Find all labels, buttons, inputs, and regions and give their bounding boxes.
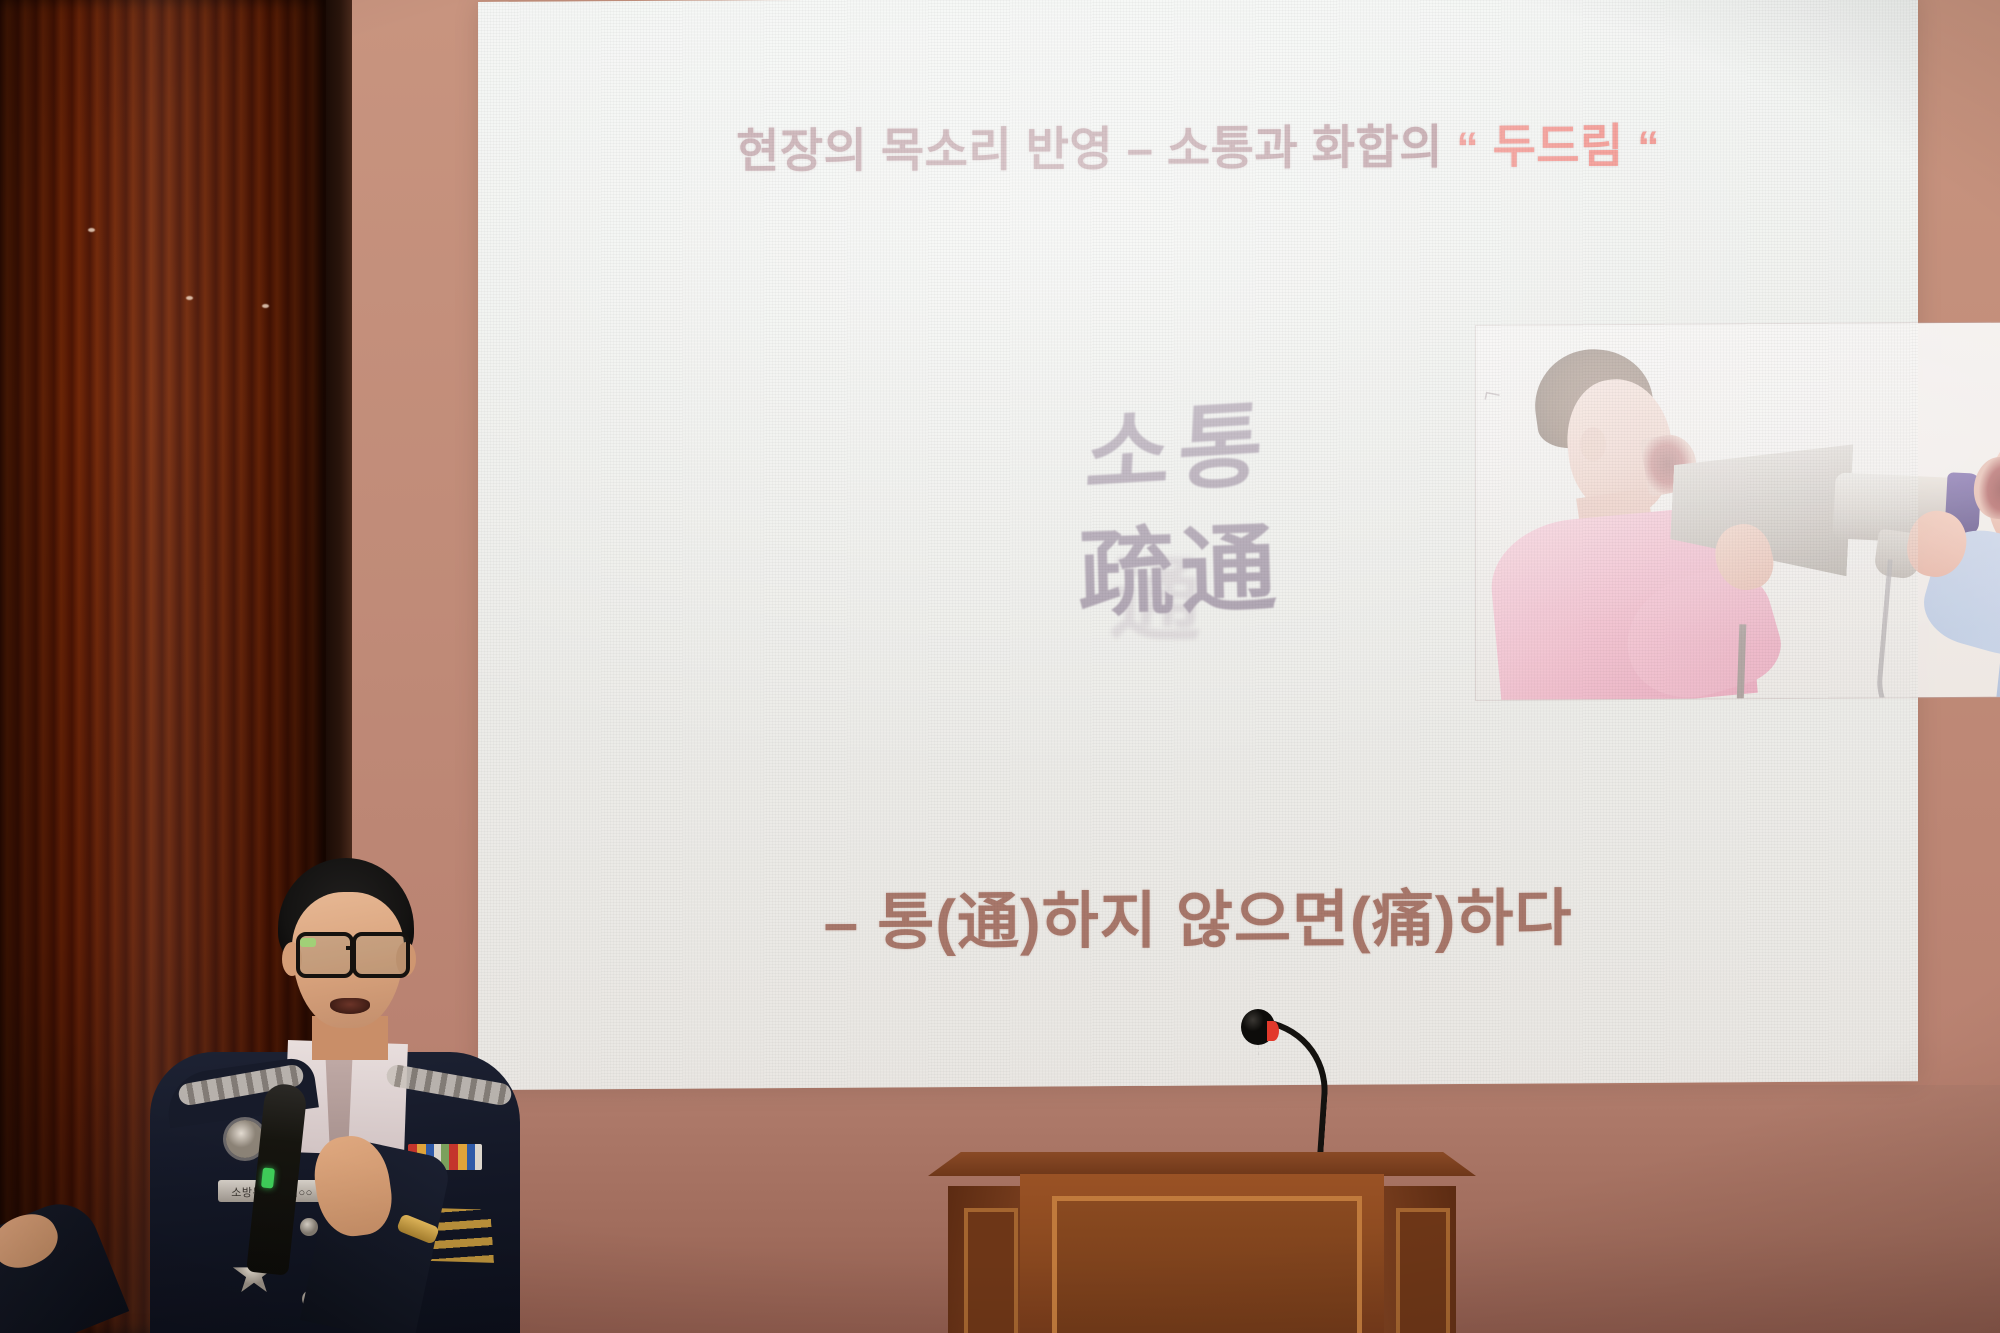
podium-right-inset <box>1396 1208 1450 1333</box>
projection-screen: 현장의 목소리 반영 – 소통과 화합의 “ 두드림 “ 소통 通 疏通 ⌐ <box>478 0 1918 1090</box>
presenter-mouth <box>330 998 370 1014</box>
calligraphy-block: 소통 通 疏通 <box>1078 375 1378 627</box>
slide-title-accent: 두드림 <box>1493 119 1624 173</box>
slide-photo: ⌐ <box>1476 322 2000 700</box>
podium-top <box>928 1152 1476 1176</box>
calligraphy-hanja: 疏通 <box>1076 490 1284 636</box>
presenter-uniform-button <box>300 1218 318 1236</box>
glasses-lens-right-icon <box>352 932 410 978</box>
glasses-bridge <box>346 946 354 950</box>
glasses-glint <box>300 938 316 947</box>
presenter: 소방본부장 김○○ <box>0 820 520 1333</box>
photo-man-ear <box>1580 427 1606 461</box>
screenshot-stage: 현장의 목소리 반영 – 소통과 화합의 “ 두드림 “ 소통 通 疏通 ⌐ <box>0 0 2000 1333</box>
gooseneck-mic-ring <box>1267 1021 1279 1041</box>
slide-bottom-line: – 통(通)하지 않으면(痛)하다 <box>478 865 1918 964</box>
podium-left-inset <box>964 1208 1018 1333</box>
slide-title-open-quote: “ <box>1457 124 1480 173</box>
podium <box>928 1152 1476 1333</box>
podium-gooseneck-mic <box>1255 1015 1347 1175</box>
slide-title-close-quote: “ <box>1637 123 1660 172</box>
wood-speck <box>186 296 193 300</box>
wood-speck <box>262 304 269 308</box>
photo-squiggle-mark: ⌐ <box>1481 376 1505 413</box>
microphone-led-indicator <box>261 1167 275 1188</box>
podium-center-inset <box>1052 1196 1362 1333</box>
slide-title-lead: 현장의 목소리 반영 – 소통과 화합의 <box>736 120 1443 177</box>
wood-speck <box>88 228 95 232</box>
slide-title: 현장의 목소리 반영 – 소통과 화합의 “ 두드림 “ <box>478 105 1918 183</box>
